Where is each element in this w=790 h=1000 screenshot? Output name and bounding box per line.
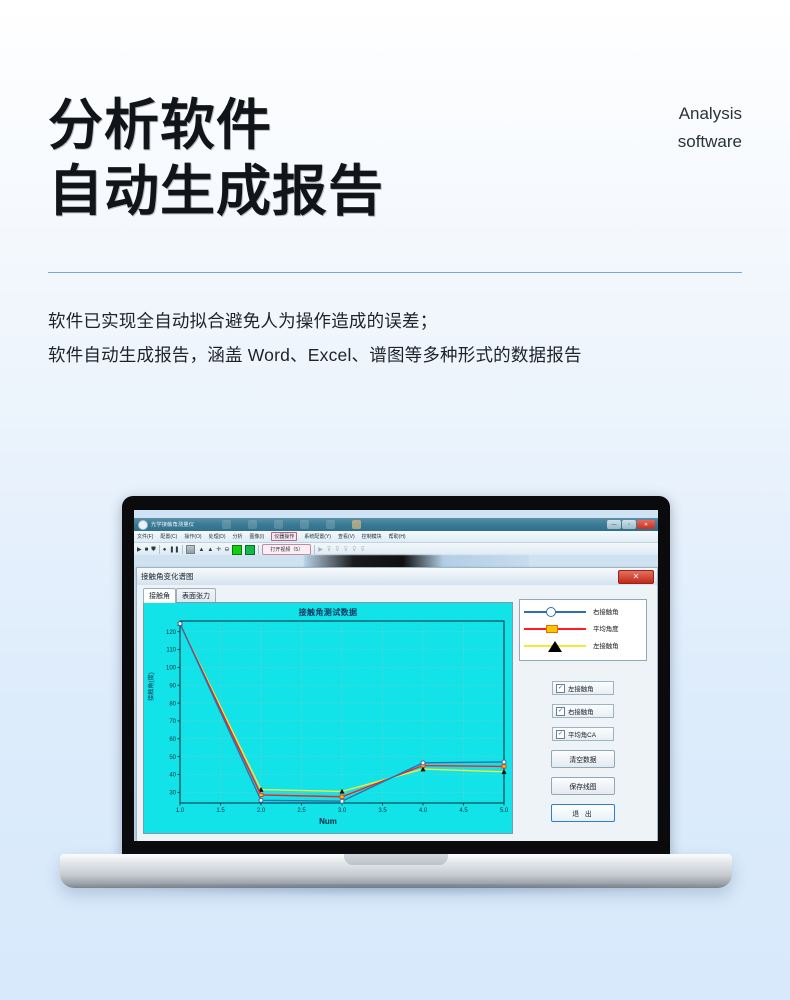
- svg-text:3.5: 3.5: [378, 808, 387, 814]
- window-controls[interactable]: — ▫ ✕: [607, 520, 656, 529]
- divider: [48, 272, 742, 273]
- maximize-button[interactable]: ▫: [622, 520, 636, 529]
- plot-area: 接触角(度) 304050607080901001101201.01.52.02…: [144, 603, 512, 833]
- hero-english-label: Analysis software: [678, 100, 742, 155]
- ghost-icon: [352, 520, 361, 529]
- stop-icon[interactable]: ■: [145, 547, 149, 553]
- pause-icon[interactable]: ❚❚: [169, 547, 179, 553]
- green-start-icon[interactable]: [232, 545, 242, 555]
- svg-text:40: 40: [169, 773, 176, 779]
- dialog-tabs[interactable]: 接触角 表面张力: [143, 588, 216, 603]
- app-logo-icon: [138, 520, 148, 530]
- svg-text:1.5: 1.5: [216, 808, 225, 814]
- menu-bar[interactable]: 文件(F) 配置(C) 操作(O) 处理(D) 分析 图像(I) 仪器操作 系统…: [134, 531, 658, 543]
- menu-item-config[interactable]: 配置(C): [160, 533, 177, 540]
- page-title: 分析软件 自动生成报告: [48, 92, 742, 224]
- square-marker-icon: [546, 624, 558, 633]
- svg-text:3.0: 3.0: [338, 808, 347, 814]
- laptop-shadow: [66, 884, 726, 896]
- legend-label: 平均角度: [593, 624, 619, 633]
- chart-svg: 304050607080901001101201.01.52.02.53.03.…: [144, 603, 512, 833]
- checkbox-label: 平均角CA: [568, 730, 596, 739]
- app-window-title: 光学接触角测量仪: [151, 521, 194, 528]
- svg-text:4.0: 4.0: [419, 808, 428, 814]
- svg-text:50: 50: [169, 755, 176, 761]
- svg-text:2.0: 2.0: [257, 808, 266, 814]
- frame-icon[interactable]: [186, 545, 195, 554]
- faded-icon: ⊽: [327, 546, 331, 553]
- ghost-icon: [300, 520, 309, 529]
- svg-text:100: 100: [166, 666, 177, 672]
- svg-text:30: 30: [169, 790, 176, 796]
- dialog-close-button[interactable]: ✕: [618, 570, 654, 584]
- title-bar-background-icons: [222, 520, 361, 529]
- menu-item-control-module[interactable]: 控制模块: [362, 533, 382, 540]
- faded-icon: ⊽: [352, 546, 356, 553]
- tab-surface-tension[interactable]: 表面张力: [176, 588, 216, 603]
- legend-item-right-angle: 右接触角: [524, 603, 642, 620]
- dialog-title: 接触角变化谱图: [141, 571, 194, 582]
- svg-text:120: 120: [166, 630, 177, 636]
- app-window: 光学接触角测量仪 — ▫ ✕: [134, 518, 658, 841]
- triangle-marker-icon: [548, 641, 562, 652]
- minimize-button[interactable]: —: [607, 520, 621, 529]
- dialog-body: 接触角 表面张力 接触角测试数据 接触角(度) 3040506070809010…: [137, 585, 657, 841]
- faded-icon: ▶: [318, 546, 323, 553]
- toolbar-separator: [314, 545, 315, 554]
- ghost-icon: [222, 520, 231, 529]
- menu-item-analysis[interactable]: 分析: [233, 533, 243, 540]
- menu-item-system-config[interactable]: 系统配置(Y): [304, 533, 331, 540]
- menu-item-instrument-operation[interactable]: 仪器操作: [271, 532, 297, 541]
- hero-section: 分析软件 自动生成报告 Analysis software: [48, 92, 742, 224]
- play-icon[interactable]: ▶: [137, 547, 142, 553]
- hero-subtitle: 软件已实现全自动拟合避免人为操作造成的误差； 软件自动生成报告，涵盖 Word、…: [48, 305, 748, 372]
- laptop-lid: 光学接触角测量仪 — ▫ ✕: [122, 496, 670, 857]
- disabled-toolbar-group: ▶ ⊽ ⊽ ⊽ ⊽ ⊽: [318, 546, 365, 553]
- legend-label: 右接触角: [593, 607, 619, 616]
- checkbox-mark[interactable]: ✓: [556, 730, 565, 739]
- green-grid-icon[interactable]: [245, 545, 255, 555]
- checkbox-average-ca[interactable]: ✓ 平均角CA: [552, 727, 614, 741]
- svg-text:2.5: 2.5: [297, 808, 306, 814]
- dialog-controls: ✓ 左接触角 ✓ 右接触角 ✓ 平均角CA: [519, 681, 647, 831]
- ghost-icon: [274, 520, 283, 529]
- y-axis-label: 接触角(度): [146, 672, 155, 701]
- legend-label: 左接触角: [593, 641, 619, 650]
- chart-panel: 接触角测试数据 接触角(度) 304050607080901001101201.…: [143, 602, 513, 834]
- clear-data-button[interactable]: 清空数据: [551, 750, 615, 768]
- svg-text:60: 60: [169, 737, 176, 743]
- faded-icon: ⊽: [344, 546, 348, 553]
- up-arrow-icon[interactable]: ▲: [207, 547, 213, 553]
- svg-text:110: 110: [166, 648, 176, 654]
- chart-legend: 右接触角 平均角度: [519, 599, 647, 661]
- checkbox-left-contact-angle[interactable]: ✓ 左接触角: [552, 681, 614, 695]
- legend-item-left-angle: 左接触角: [524, 637, 642, 654]
- checkbox-label: 左接触角: [568, 684, 594, 693]
- laptop-base: [60, 854, 732, 888]
- contact-angle-chart-dialog: 接触角变化谱图 ✕ 接触角 表面张力 接触角测试数据: [136, 567, 658, 841]
- menu-item-view[interactable]: 查看(V): [338, 533, 355, 540]
- app-title-bar: 光学接触角测量仪 — ▫ ✕: [134, 518, 658, 531]
- checkbox-mark[interactable]: ✓: [556, 684, 565, 693]
- toolbar-separator: [159, 545, 160, 554]
- app-workspace: 接触角变化谱图 ✕ 接触角 表面张力 接触角测试数据: [134, 555, 658, 841]
- menu-item-file[interactable]: 文件(F): [137, 533, 153, 540]
- faded-icon: ⊽: [360, 546, 364, 553]
- dialog-title-bar: 接触角变化谱图 ✕: [137, 568, 657, 585]
- legend-item-average-angle: 平均角度: [524, 620, 642, 637]
- toolbar-separator: [258, 545, 259, 554]
- svg-text:90: 90: [169, 683, 176, 689]
- record-icon[interactable]: ●: [163, 547, 167, 553]
- ghost-icon: [326, 520, 335, 529]
- menu-item-help[interactable]: 帮助(H): [389, 533, 406, 540]
- close-button[interactable]: ✕: [637, 520, 655, 529]
- open-video-button[interactable]: 打开视频（5）: [262, 544, 311, 555]
- svg-text:70: 70: [169, 719, 176, 725]
- checkbox-right-contact-angle[interactable]: ✓ 右接触角: [552, 704, 614, 718]
- toolbar-separator: [182, 545, 183, 554]
- menu-item-process[interactable]: 处理(D): [209, 533, 226, 540]
- save-chart-button[interactable]: 保存线图: [551, 777, 615, 795]
- tab-contact-angle[interactable]: 接触角: [143, 588, 176, 603]
- up-arrow-icon[interactable]: ▲: [198, 547, 204, 553]
- menu-item-operate[interactable]: 操作(O): [184, 533, 201, 540]
- laptop-screen: 光学接触角测量仪 — ▫ ✕: [134, 510, 658, 841]
- exit-button[interactable]: 退 出: [551, 804, 615, 822]
- svg-text:5.0: 5.0: [500, 808, 509, 814]
- svg-text:4.5: 4.5: [459, 808, 468, 814]
- circle-marker-icon: [546, 607, 556, 617]
- svg-text:1.0: 1.0: [176, 808, 185, 814]
- svg-text:80: 80: [169, 701, 176, 707]
- x-axis-label: Num: [144, 817, 512, 826]
- laptop-mockup: 光学接触角测量仪 — ▫ ✕: [60, 496, 732, 916]
- checkbox-label: 右接触角: [568, 707, 594, 716]
- camera-icon[interactable]: ⛊: [151, 547, 156, 553]
- minus-circle-icon[interactable]: ⊖: [224, 547, 229, 553]
- ghost-icon: [248, 520, 257, 529]
- menu-item-image[interactable]: 图像(I): [250, 533, 265, 540]
- faded-icon: ⊽: [335, 546, 339, 553]
- crosshair-icon[interactable]: ✛: [216, 547, 221, 553]
- checkbox-mark[interactable]: ✓: [556, 707, 565, 716]
